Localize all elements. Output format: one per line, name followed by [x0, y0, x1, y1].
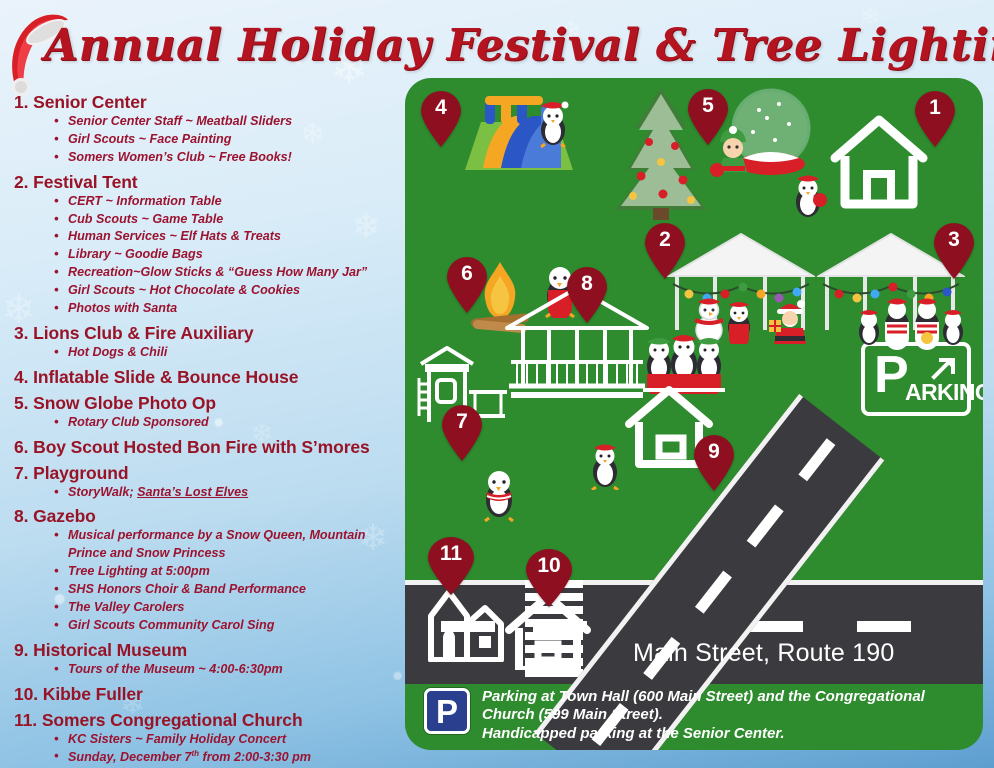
- map-marker-label: 6: [445, 262, 489, 286]
- parking-note-line-1: Parking at Town Hall (600 Main Street) a…: [482, 688, 925, 705]
- parking-sign-text: ARKING: [905, 379, 983, 406]
- legend-sub-list: StoryWalk; Santa’s Lost Elves: [54, 484, 400, 502]
- festival-map: Battle Street Main Street, Route 190 P A…: [405, 78, 983, 750]
- legend-sub-item: Rotary Club Sponsored: [54, 414, 400, 432]
- map-marker-4[interactable]: 4: [419, 90, 463, 148]
- legend-sub-item: CERT ~ Information Table: [54, 193, 400, 211]
- map-marker-6[interactable]: 6: [445, 256, 489, 314]
- legend-heading: 6. Boy Scout Hosted Bon Fire with S’more…: [14, 437, 400, 458]
- legend-heading: 4. Inflatable Slide & Bounce House: [14, 367, 400, 388]
- street-label-main: Main Street, Route 190: [633, 639, 895, 668]
- legend-sub-list: KC Sisters ~ Family Holiday ConcertSunda…: [54, 731, 400, 768]
- penguin-family-illustration: [855, 298, 965, 350]
- map-marker-11[interactable]: 11: [425, 536, 477, 594]
- legend-list: 1. Senior CenterSenior Center Staff ~ Me…: [0, 92, 400, 768]
- legend-sub-item: Photos with Santa: [54, 300, 400, 318]
- penguin-illustration: [723, 300, 757, 344]
- map-marker-7[interactable]: 7: [440, 404, 484, 462]
- parking-badge-icon: P: [424, 688, 470, 734]
- parking-note-line-3: Handicapped parking at the Senior Center…: [482, 725, 785, 742]
- legend-sub-item: Human Services ~ Elf Hats & Treats: [54, 228, 400, 246]
- legend-sub-item: The Valley Carolers: [54, 599, 400, 617]
- legend-sub-item: SHS Honors Choir & Band Performance: [54, 581, 400, 599]
- map-marker-label: 3: [932, 228, 976, 252]
- legend-sub-item: Senior Center Staff ~ Meatball Sliders: [54, 113, 400, 131]
- title-bar: Annual Holiday Festival & Tree Lighting: [0, 6, 994, 84]
- legend-heading: 3. Lions Club & Fire Auxiliary: [14, 323, 400, 344]
- ordinal-suffix: th: [191, 749, 199, 758]
- parking-note-text: Parking at Town Hall (600 Main Street) a…: [482, 688, 925, 743]
- legend-sub-list: Musical performance by a Snow Queen, Mou…: [54, 527, 400, 634]
- legend-sub-item: Tours of the Museum ~ 4:00-6:30pm: [54, 661, 400, 679]
- legend-sub-list: Hot Dogs & Chili: [54, 344, 400, 362]
- map-marker-label: 5: [686, 94, 730, 118]
- legend-sub-item: Library ~ Goodie Bags: [54, 246, 400, 264]
- map-marker-label: 2: [643, 228, 687, 252]
- legend-sub-item: Tree Lighting at 5:00pm: [54, 563, 400, 581]
- map-marker-8[interactable]: 8: [565, 266, 609, 324]
- arrow-up-right-icon: [929, 354, 957, 382]
- map-marker-1[interactable]: 1: [913, 90, 957, 148]
- legend-heading: 1. Senior Center: [14, 92, 400, 113]
- parking-sign-p: P: [874, 349, 909, 401]
- legend-sub-item: Recreation~Glow Sticks & “Guess How Many…: [54, 264, 400, 282]
- map-marker-2[interactable]: 2: [643, 222, 687, 280]
- legend-sub-item: Musical performance by a Snow Queen, Mou…: [54, 527, 400, 563]
- parking-badge-letter: P: [427, 691, 467, 731]
- map-marker-label: 10: [523, 554, 575, 578]
- legend-heading: 8. Gazebo: [14, 506, 400, 527]
- map-marker-10[interactable]: 10: [523, 548, 575, 606]
- parking-note: P Parking at Town Hall (600 Main Street)…: [424, 688, 984, 754]
- legend-sub-item[interactable]: StoryWalk; Santa’s Lost Elves: [54, 484, 400, 502]
- map-marker-label: 1: [913, 96, 957, 120]
- legend-date-line: Sunday, December 7th from 2:00-3:30 pm: [54, 748, 400, 767]
- penguin-illustration: [535, 100, 571, 148]
- santa-illustration: [767, 296, 813, 346]
- legend-heading: 9. Historical Museum: [14, 640, 400, 661]
- legend-sub-item: KC Sisters ~ Family Holiday Concert: [54, 731, 400, 749]
- legend-heading: 10. Kibbe Fuller: [14, 684, 400, 705]
- map-marker-label: 7: [440, 410, 484, 434]
- legend-sub-list: CERT ~ Information TableCub Scouts ~ Gam…: [54, 193, 400, 318]
- legend-sub-item: Hot Dogs & Chili: [54, 344, 400, 362]
- legend-heading: 2. Festival Tent: [14, 172, 400, 193]
- legend-sub-list: Tours of the Museum ~ 4:00-6:30pm: [54, 661, 400, 679]
- legend-sub-list: Rotary Club Sponsored: [54, 414, 400, 432]
- map-marker-label: 4: [419, 96, 463, 120]
- map-marker-9[interactable]: 9: [692, 434, 736, 492]
- map-marker-5[interactable]: 5: [686, 88, 730, 146]
- legend-sub-list: Senior Center Staff ~ Meatball SlidersGi…: [54, 113, 400, 167]
- legend-sub-item: Girl Scouts Community Carol Sing: [54, 617, 400, 635]
- map-marker-3[interactable]: 3: [932, 222, 976, 280]
- legend-sub-item: Somers Women’s Club ~ Free Books!: [54, 149, 400, 167]
- map-marker-label: 8: [565, 272, 609, 296]
- legend-heading: 11. Somers Congregational Church: [14, 710, 400, 731]
- parking-road-sign: P ARKING: [861, 342, 971, 416]
- legend-sub-item: Cub Scouts ~ Game Table: [54, 211, 400, 229]
- legend-sub-item: Girl Scouts ~ Face Painting: [54, 131, 400, 149]
- penguin-illustration: [587, 442, 625, 490]
- penguin-illustration: [791, 174, 829, 220]
- page-title: Annual Holiday Festival & Tree Lighting: [44, 20, 994, 71]
- parking-note-line-2: Church (599 Main Street).: [482, 706, 663, 723]
- legend-heading: 5. Snow Globe Photo Op: [14, 393, 400, 414]
- legend-sub-item-link[interactable]: Santa’s Lost Elves: [137, 485, 248, 499]
- map-marker-label: 11: [425, 542, 477, 566]
- map-marker-label: 9: [692, 440, 736, 464]
- penguin-illustration: [479, 466, 521, 522]
- legend-heading: 7. Playground: [14, 463, 400, 484]
- legend-sub-item: Girl Scouts ~ Hot Chocolate & Cookies: [54, 282, 400, 300]
